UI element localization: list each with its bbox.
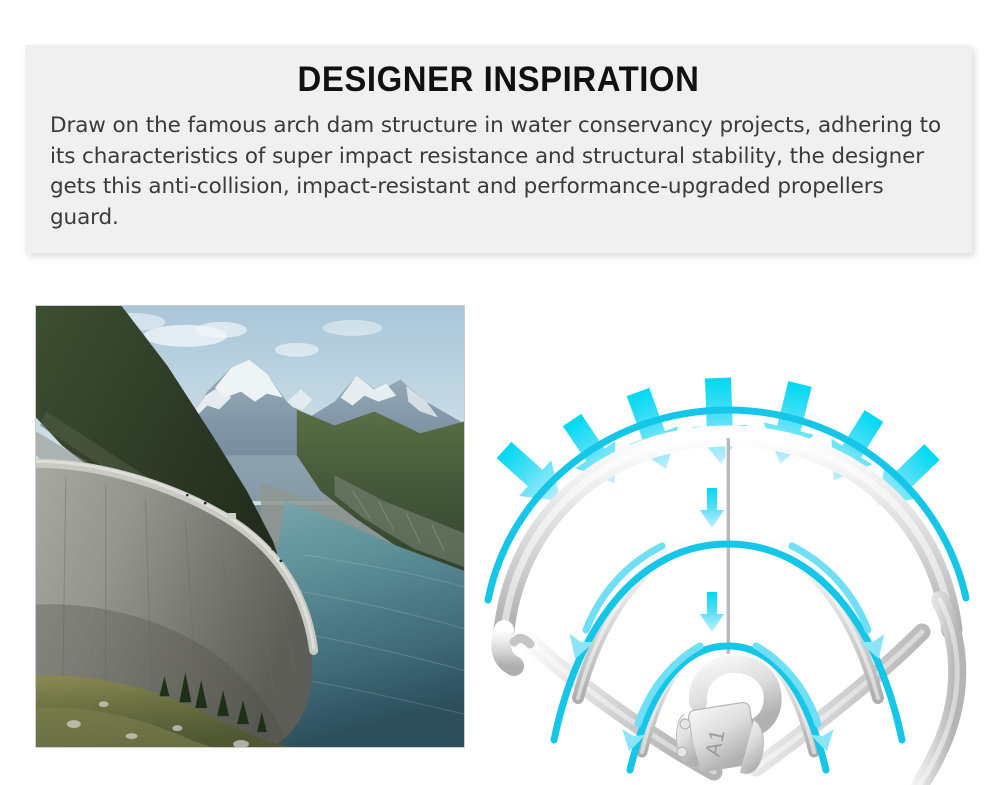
- propeller-guard-artwork: A1: [470, 300, 990, 785]
- left-strut: [514, 638, 530, 644]
- designer-inspiration-panel: DESIGNER INSPIRATION Draw on the famous …: [25, 45, 972, 253]
- propeller-guard-diagram: A1: [470, 300, 990, 785]
- spine-arrow-lower: [700, 592, 724, 632]
- arch-dam-photo-artwork: [36, 306, 464, 747]
- clamp-hinge-top: [680, 719, 690, 729]
- arch-dam-photo: [35, 305, 465, 748]
- impact-arrow-4: [690, 377, 749, 465]
- page-title: DESIGNER INSPIRATION: [53, 60, 943, 100]
- clamp-hinge-bottom: [677, 747, 687, 757]
- spine-impact-arrows: [700, 488, 724, 632]
- mount-clamp: A1: [677, 664, 773, 774]
- panel-body-text: Draw on the famous arch dam structure in…: [50, 111, 950, 233]
- outer-arch-left-foot: [501, 630, 514, 666]
- spine-arrow-upper: [700, 488, 724, 528]
